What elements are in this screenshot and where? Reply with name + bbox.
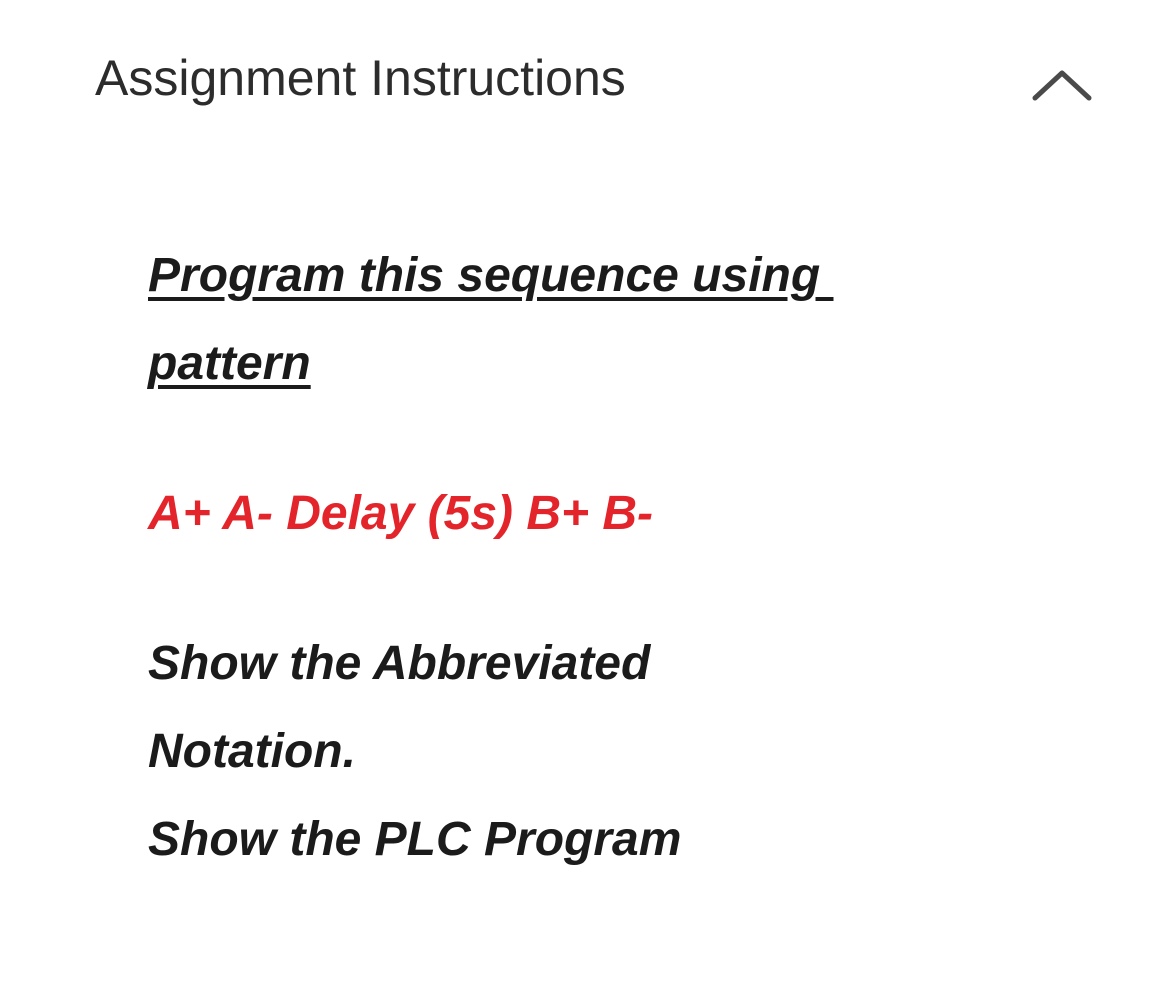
panel-header: Assignment Instructions: [0, 0, 1150, 150]
task-line-2: Notation.: [148, 708, 1110, 796]
task-line-1: Show the Abbreviated: [148, 620, 1110, 708]
instruction-heading-line-2: pattern: [148, 320, 1110, 408]
sequence-group: A+ A- Delay (5s) B+ B-: [148, 470, 1110, 558]
assignment-instructions-panel: Assignment Instructions Program this seq…: [0, 0, 1150, 989]
collapse-panel-button[interactable]: [1022, 58, 1102, 114]
task-line-3: Show the PLC Program: [148, 796, 1110, 884]
task-list-group: Show the Abbreviated Notation. Show the …: [148, 620, 1110, 884]
sequence-pattern-text: A+ A- Delay (5s) B+ B-: [148, 470, 1110, 558]
instructions-body: Program this sequence using pattern A+ A…: [0, 150, 1150, 884]
instruction-heading-group: Program this sequence using pattern: [148, 232, 1110, 408]
instruction-heading-line-1: Program this sequence using: [148, 232, 1110, 320]
page-title: Assignment Instructions: [95, 52, 626, 105]
chevron-up-icon: [1031, 66, 1093, 106]
